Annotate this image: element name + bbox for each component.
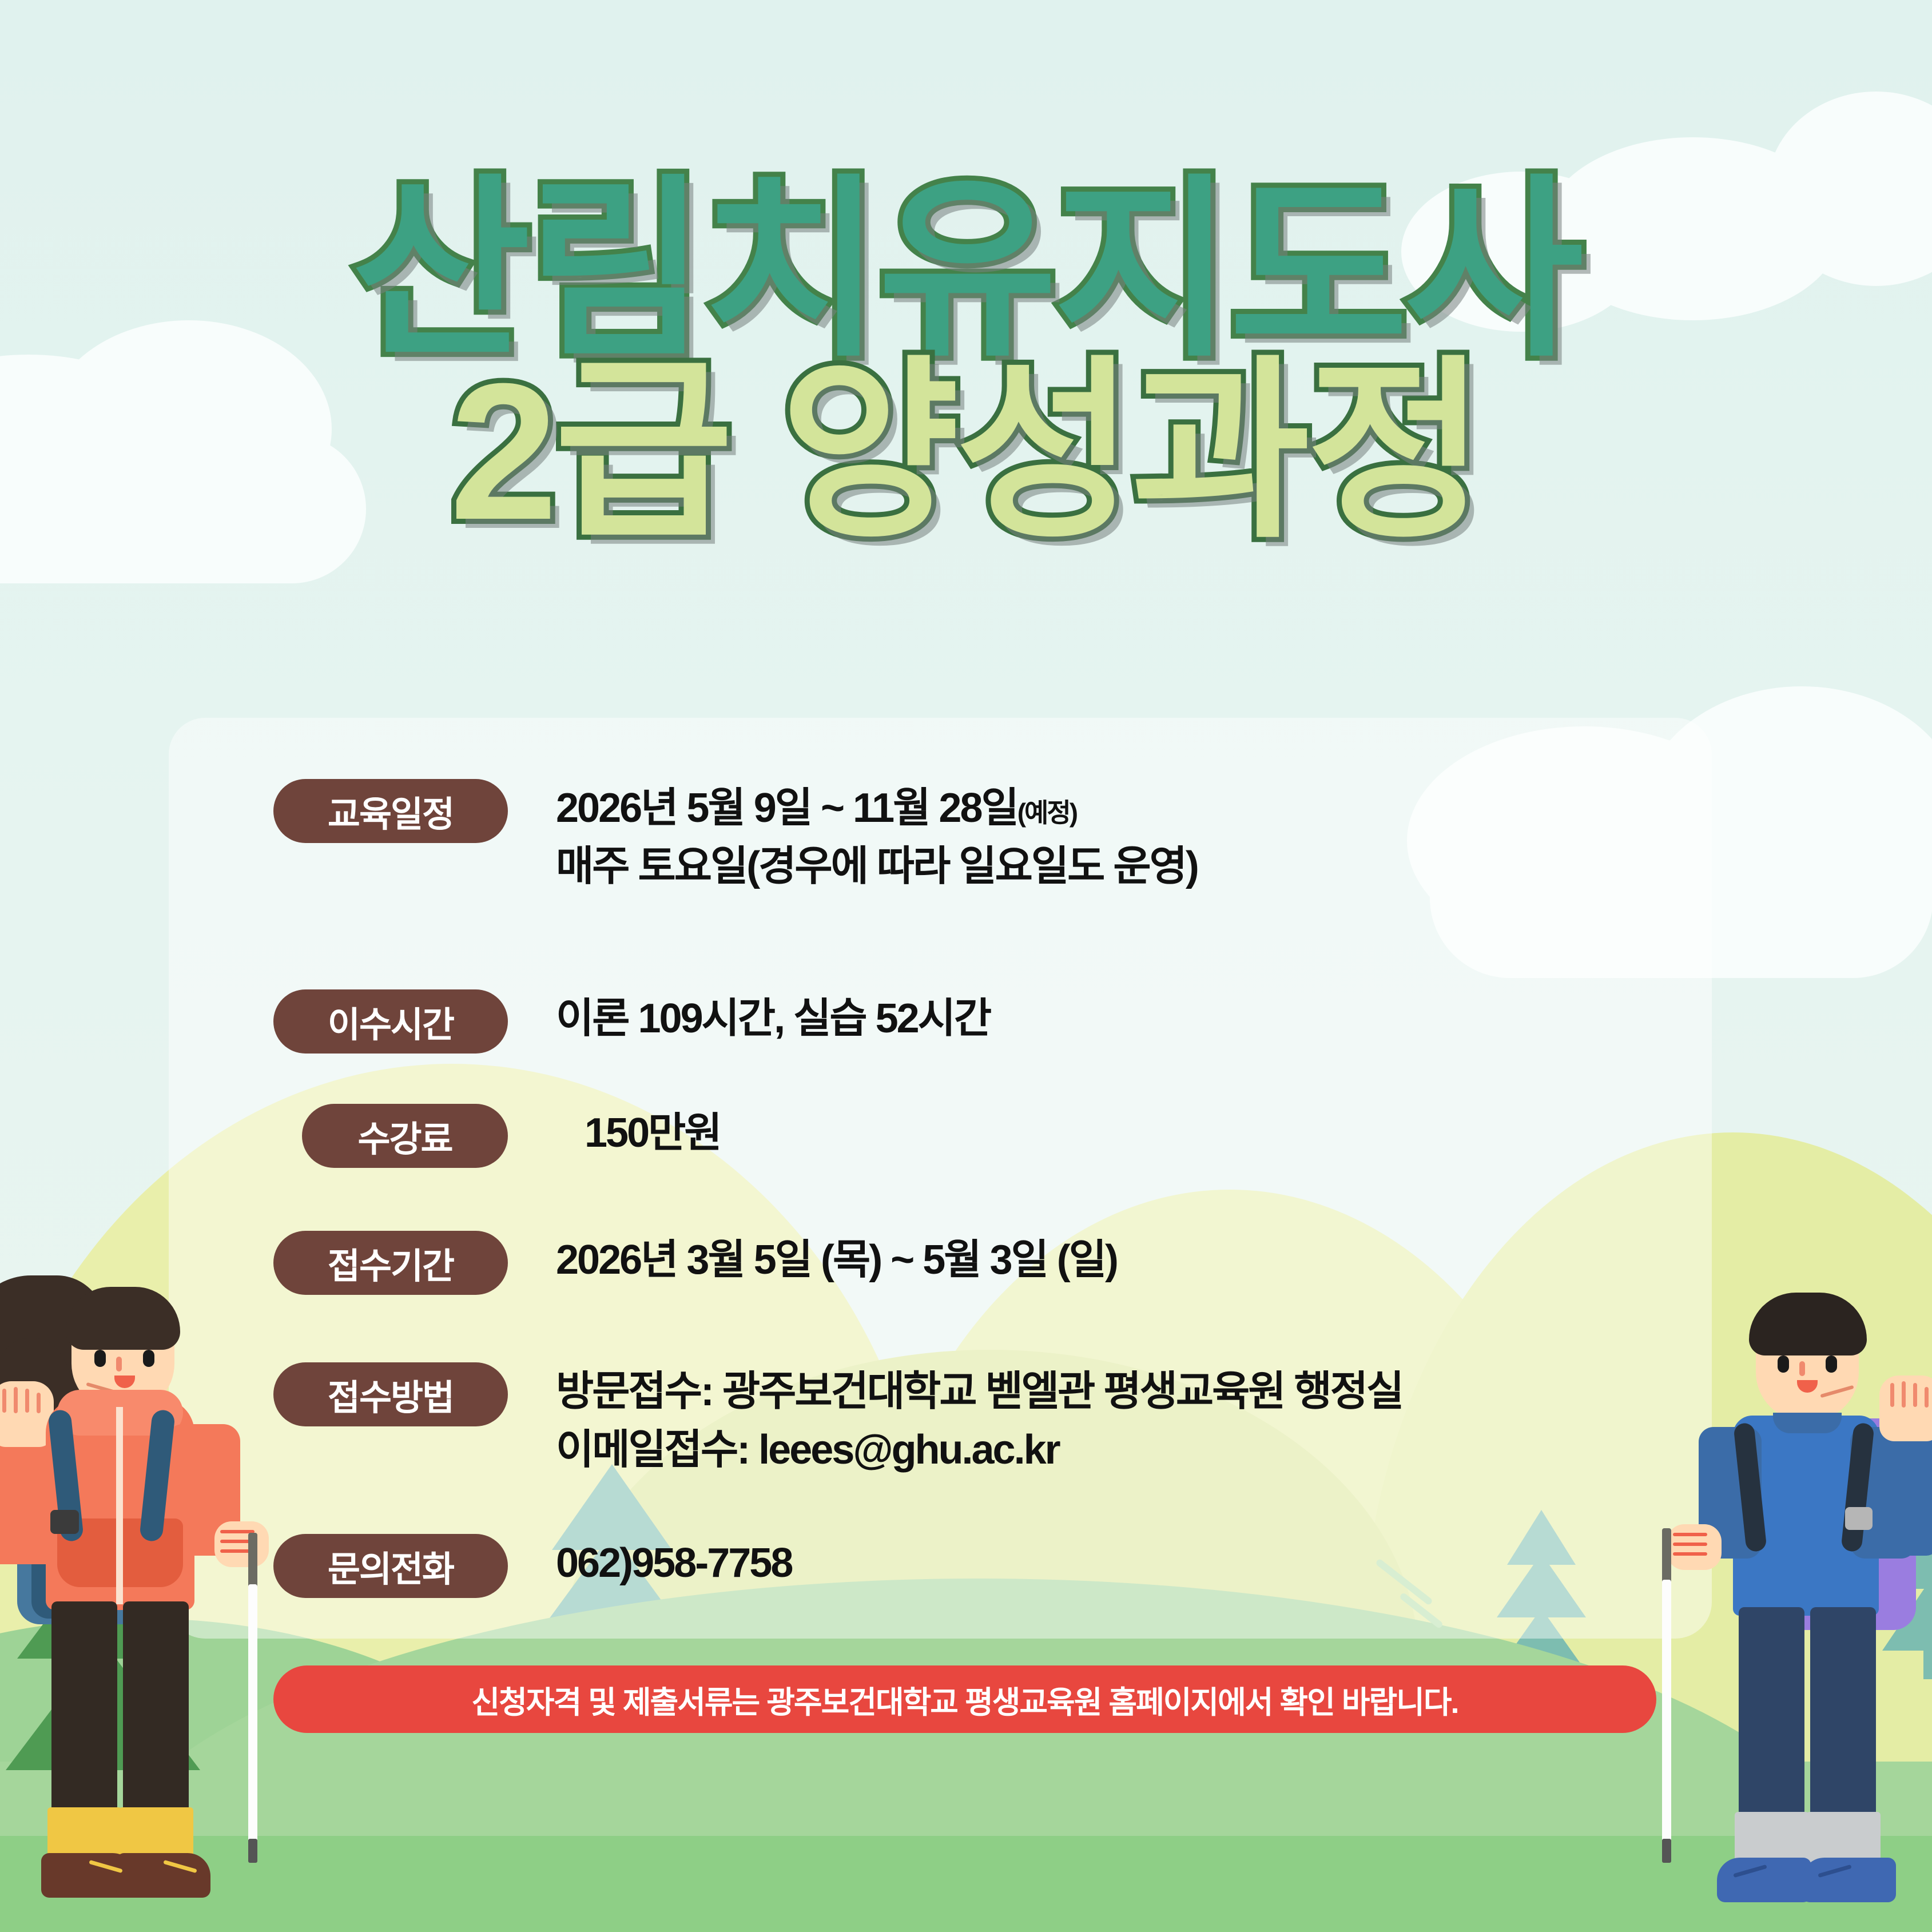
leg-right bbox=[123, 1601, 189, 1819]
finger-line bbox=[1890, 1383, 1894, 1407]
trekking-pole-right-tip bbox=[1662, 1839, 1671, 1863]
value-fee: 150만원 bbox=[585, 1104, 721, 1162]
hair bbox=[1749, 1293, 1867, 1355]
value-application-method: 방문접수: 광주보건대학교 벧엘관 평생교육원 행정실 이메일접수: leees… bbox=[556, 1362, 1402, 1479]
finger-line bbox=[25, 1389, 29, 1413]
badge-application-period: 접수기간 bbox=[273, 1231, 508, 1295]
nose bbox=[116, 1357, 122, 1372]
application-method-email: 이메일접수: leees@ghu.ac.kr bbox=[556, 1421, 1402, 1479]
pole-finger bbox=[1673, 1543, 1707, 1546]
info-row-schedule: 교육일정 2026년 5월 9일 ~ 11월 28일(예정) 매주 토요일(경우… bbox=[273, 779, 1198, 896]
finger-line bbox=[1902, 1381, 1906, 1408]
value-application-period: 2026년 3월 5일 (목) ~ 5월 3일 (일) bbox=[556, 1231, 1117, 1289]
info-row-fee: 수강료 150만원 bbox=[302, 1104, 721, 1168]
hill-green-foreground bbox=[0, 1836, 1932, 1932]
eye-right bbox=[143, 1350, 154, 1367]
poster-canvas: 산림치유지도사 2급 양성과정 교육일정 2026년 5월 9일 ~ 11월 2… bbox=[0, 0, 1932, 1932]
shoe-right bbox=[116, 1853, 210, 1898]
info-row-hours: 이수시간 이론 109시간, 실습 52시간 bbox=[273, 989, 990, 1054]
finger-line bbox=[37, 1393, 41, 1413]
title-line-1: 산림치유지도사 bbox=[0, 172, 1932, 370]
waving-arm bbox=[1881, 1427, 1932, 1556]
boot-cuff-left bbox=[1735, 1812, 1809, 1863]
strap-buckle bbox=[50, 1510, 79, 1534]
badge-hours: 이수시간 bbox=[273, 989, 508, 1054]
boot-cuff-left bbox=[47, 1807, 122, 1859]
eye-right bbox=[1826, 1355, 1837, 1373]
finger-line bbox=[1925, 1387, 1929, 1408]
leg-left bbox=[1739, 1607, 1804, 1824]
nose bbox=[1799, 1361, 1805, 1376]
application-method-visit: 방문접수: 광주보건대학교 벧엘관 평생교육원 행정실 bbox=[556, 1362, 1402, 1421]
schedule-tentative: (예정) bbox=[1017, 798, 1076, 828]
leg-right bbox=[1810, 1607, 1876, 1824]
poster-title: 산림치유지도사 2급 양성과정 bbox=[0, 172, 1932, 551]
info-row-application-method: 접수방법 방문접수: 광주보건대학교 벧엘관 평생교육원 행정실 이메일접수: … bbox=[273, 1362, 1402, 1479]
boot-cuff-right bbox=[1806, 1812, 1881, 1863]
finger-line bbox=[1913, 1383, 1917, 1407]
value-hours: 이론 109시간, 실습 52시간 bbox=[556, 989, 990, 1048]
trekking-pole-left-tip bbox=[248, 1839, 257, 1863]
strap-buckle bbox=[1845, 1507, 1873, 1530]
pole-hand bbox=[214, 1521, 269, 1567]
collar bbox=[1773, 1413, 1842, 1433]
trekking-pole-left-shaft bbox=[248, 1584, 257, 1853]
info-row-application-period: 접수기간 2026년 3월 5일 (목) ~ 5월 3일 (일) bbox=[273, 1231, 1117, 1295]
info-row-phone: 문의전화 062)958-7758 bbox=[273, 1534, 792, 1598]
schedule-dates: 2026년 5월 9일 ~ 11월 28일 bbox=[556, 785, 1017, 831]
eye-left bbox=[1778, 1355, 1789, 1373]
badge-phone: 문의전화 bbox=[273, 1534, 508, 1598]
pole-finger bbox=[1673, 1552, 1707, 1556]
pole-hand bbox=[1667, 1524, 1722, 1570]
eye-left bbox=[94, 1350, 106, 1367]
leg-left bbox=[51, 1601, 117, 1819]
left-hiker-illustration bbox=[0, 1270, 275, 1916]
waving-hand bbox=[1879, 1376, 1932, 1441]
jacket-zipper bbox=[116, 1407, 123, 1604]
hair-front bbox=[66, 1287, 180, 1350]
trekking-pole-left bbox=[248, 1533, 257, 1590]
value-schedule: 2026년 5월 9일 ~ 11월 28일(예정) 매주 토요일(경우에 따라 … bbox=[556, 779, 1198, 896]
finger-line bbox=[14, 1387, 18, 1413]
title-line-2: 2급 양성과정 bbox=[0, 353, 1932, 551]
boot-cuff-right bbox=[119, 1807, 193, 1859]
badge-fee: 수강료 bbox=[302, 1104, 508, 1168]
right-hiker-illustration bbox=[1676, 1275, 1932, 1916]
notice-banner: 신청자격 및 제출서류는 광주보건대학교 평생교육원 홈페이지에서 확인 바랍니… bbox=[273, 1665, 1656, 1733]
pole-finger bbox=[1673, 1533, 1707, 1536]
badge-schedule: 교육일정 bbox=[273, 779, 508, 843]
trekking-pole-right-shaft bbox=[1662, 1580, 1671, 1853]
finger-line bbox=[2, 1389, 6, 1413]
badge-application-method: 접수방법 bbox=[273, 1362, 508, 1426]
trekking-pole-right bbox=[1662, 1528, 1671, 1585]
schedule-weekday: 매주 토요일(경우에 따라 일요일도 운영) bbox=[556, 837, 1198, 896]
value-phone: 062)958-7758 bbox=[556, 1534, 792, 1592]
